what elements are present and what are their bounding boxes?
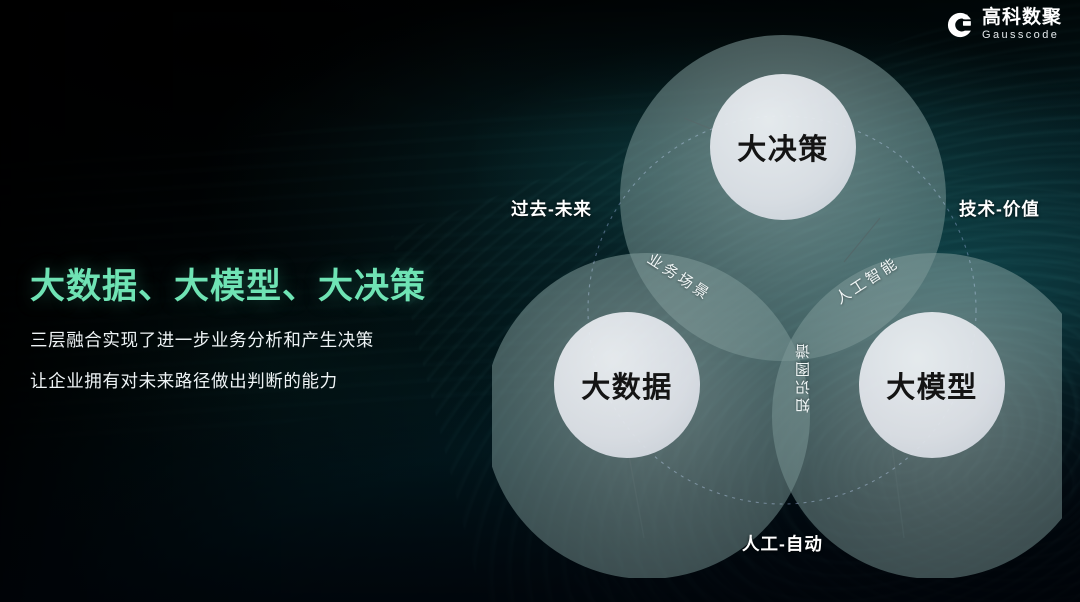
slide-canvas: 高科数聚 Gausscode 大数据、大模型、大决策 三层融合实现了进一步业务分…: [0, 0, 1080, 602]
venn-svg: [492, 18, 1062, 578]
venn-intersection-label-kg: 知识图谱: [793, 341, 814, 413]
brand-logo: 高科数聚 Gausscode: [946, 8, 1062, 41]
brand-name-en: Gausscode: [982, 30, 1062, 41]
axis-label-past-future: 过去-未来: [511, 196, 592, 221]
copy-block: 大数据、大模型、大决策 三层融合实现了进一步业务分析和产生决策 让企业拥有对未来…: [30, 258, 460, 393]
venn-label-bigmodel: 大模型: [886, 364, 978, 406]
axis-label-manual-auto: 人工-自动: [742, 531, 823, 556]
axis-label-tech-value: 技术-价值: [959, 196, 1040, 221]
page-title: 大数据、大模型、大决策: [30, 258, 460, 309]
venn-label-decision: 大决策: [737, 126, 829, 168]
subtitle-line-1: 三层融合实现了进一步业务分析和产生决策: [30, 327, 460, 352]
brand-logo-text: 高科数聚 Gausscode: [982, 8, 1062, 41]
gausscode-g-mark-icon: [946, 11, 974, 39]
subtitle-line-2: 让企业拥有对未来路径做出判断的能力: [30, 368, 460, 393]
venn-label-bigdata: 大数据: [581, 364, 673, 406]
brand-name-cn: 高科数聚: [982, 8, 1062, 27]
venn-diagram: [492, 18, 1062, 578]
